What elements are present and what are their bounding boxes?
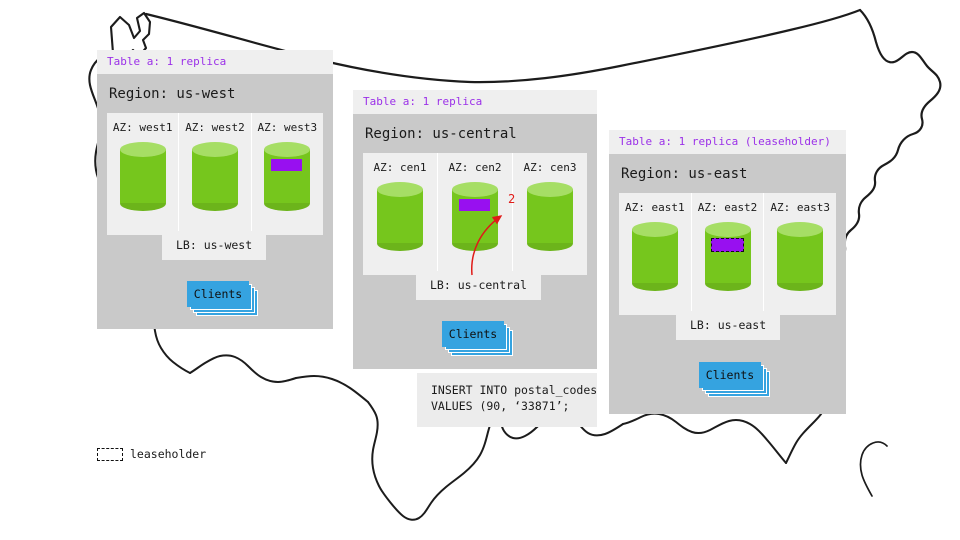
banner-us-east: Table a: 1 replica (leaseholder) [609,130,846,154]
az-label-cen3: AZ: cen3 [524,161,577,174]
clients-button-us-central[interactable]: Clients [442,321,504,347]
cylinder-body-icon [264,149,310,203]
load-balancer-us-west[interactable]: LB: us-west [162,231,266,260]
az-strip-us-west: AZ: west1 AZ: west2 AZ [107,113,323,235]
load-balancer-us-central[interactable]: LB: us-central [416,271,541,300]
banner-us-central: Table a: 1 replica [353,90,597,114]
clients-stack-us-east[interactable]: Clients [699,362,761,388]
az-cell-east2[interactable]: AZ: east2 [692,193,765,315]
arrow-step-label-2: 2 [508,192,515,206]
az-cell-west3[interactable]: AZ: west3 [252,113,323,235]
az-cell-cen1[interactable]: AZ: cen1 [363,153,438,275]
node-cylinder-cen3[interactable] [527,182,573,250]
az-cell-west1[interactable]: AZ: west1 [107,113,179,235]
node-cylinder-east1[interactable] [632,222,678,290]
cylinder-top-icon [120,142,166,157]
clients-stack-us-central[interactable]: Clients [442,321,504,347]
node-cylinder-cen2[interactable] [452,182,498,250]
legend: leaseholder [97,447,206,461]
az-label-east3: AZ: east3 [770,201,830,214]
node-cylinder-west2[interactable] [192,142,238,210]
node-cylinder-cen1[interactable] [377,182,423,250]
replica-marker-west3 [271,159,302,171]
cylinder-top-icon [632,222,678,237]
az-label-east2: AZ: east2 [698,201,758,214]
cylinder-body-icon [527,189,573,243]
region-title-us-west: Region: us-west [97,74,333,113]
az-label-west3: AZ: west3 [258,121,318,134]
clients-stack-shadow: Clients [442,321,504,347]
banner-us-west: Table a: 1 replica [97,50,333,74]
az-label-west1: AZ: west1 [113,121,173,134]
cylinder-top-icon [452,182,498,197]
az-label-east1: AZ: east1 [625,201,685,214]
sql-statement-note: INSERT INTO postal_codes VALUES (90, ‘33… [417,373,597,427]
dashed-rect-icon [97,448,123,461]
leaseholder-replica-marker-east2 [711,238,744,252]
cylinder-top-icon [777,222,823,237]
replica-marker-cen2 [459,199,490,211]
cylinder-top-icon [705,222,751,237]
node-cylinder-west1[interactable] [120,142,166,210]
region-title-us-central: Region: us-central [353,114,597,153]
cylinder-body-icon [377,189,423,243]
cylinder-top-icon [377,182,423,197]
az-cell-east1[interactable]: AZ: east1 [619,193,692,315]
cylinder-top-icon [192,142,238,157]
az-cell-east3[interactable]: AZ: east3 [764,193,836,315]
node-cylinder-east3[interactable] [777,222,823,290]
az-cell-cen3[interactable]: AZ: cen3 [513,153,587,275]
az-cell-west2[interactable]: AZ: west2 [179,113,251,235]
clients-stack-us-west[interactable]: Clients [187,281,249,307]
cylinder-body-icon [192,149,238,203]
az-strip-us-central: AZ: cen1 AZ: cen2 [363,153,587,275]
az-label-cen2: AZ: cen2 [449,161,502,174]
cylinder-top-icon [264,142,310,157]
clients-button-us-east[interactable]: Clients [699,362,761,388]
az-label-west2: AZ: west2 [185,121,245,134]
load-balancer-us-east[interactable]: LB: us-east [676,311,780,340]
clients-stack-shadow: Clients [699,362,761,388]
node-cylinder-west3[interactable] [264,142,310,210]
diagram-canvas: Table a: 1 replica Region: us-west AZ: w… [0,0,960,540]
cylinder-body-icon [777,229,823,283]
region-title-us-east: Region: us-east [609,154,846,193]
cylinder-body-icon [120,149,166,203]
clients-button-us-west[interactable]: Clients [187,281,249,307]
cylinder-body-icon [632,229,678,283]
clients-stack-shadow: Clients [187,281,249,307]
cylinder-body-icon [452,189,498,243]
az-strip-us-east: AZ: east1 AZ: east2 [619,193,836,315]
cylinder-top-icon [527,182,573,197]
az-label-cen1: AZ: cen1 [374,161,427,174]
az-cell-cen2[interactable]: AZ: cen2 [438,153,513,275]
node-cylinder-east2[interactable] [705,222,751,290]
legend-label: leaseholder [130,447,206,461]
